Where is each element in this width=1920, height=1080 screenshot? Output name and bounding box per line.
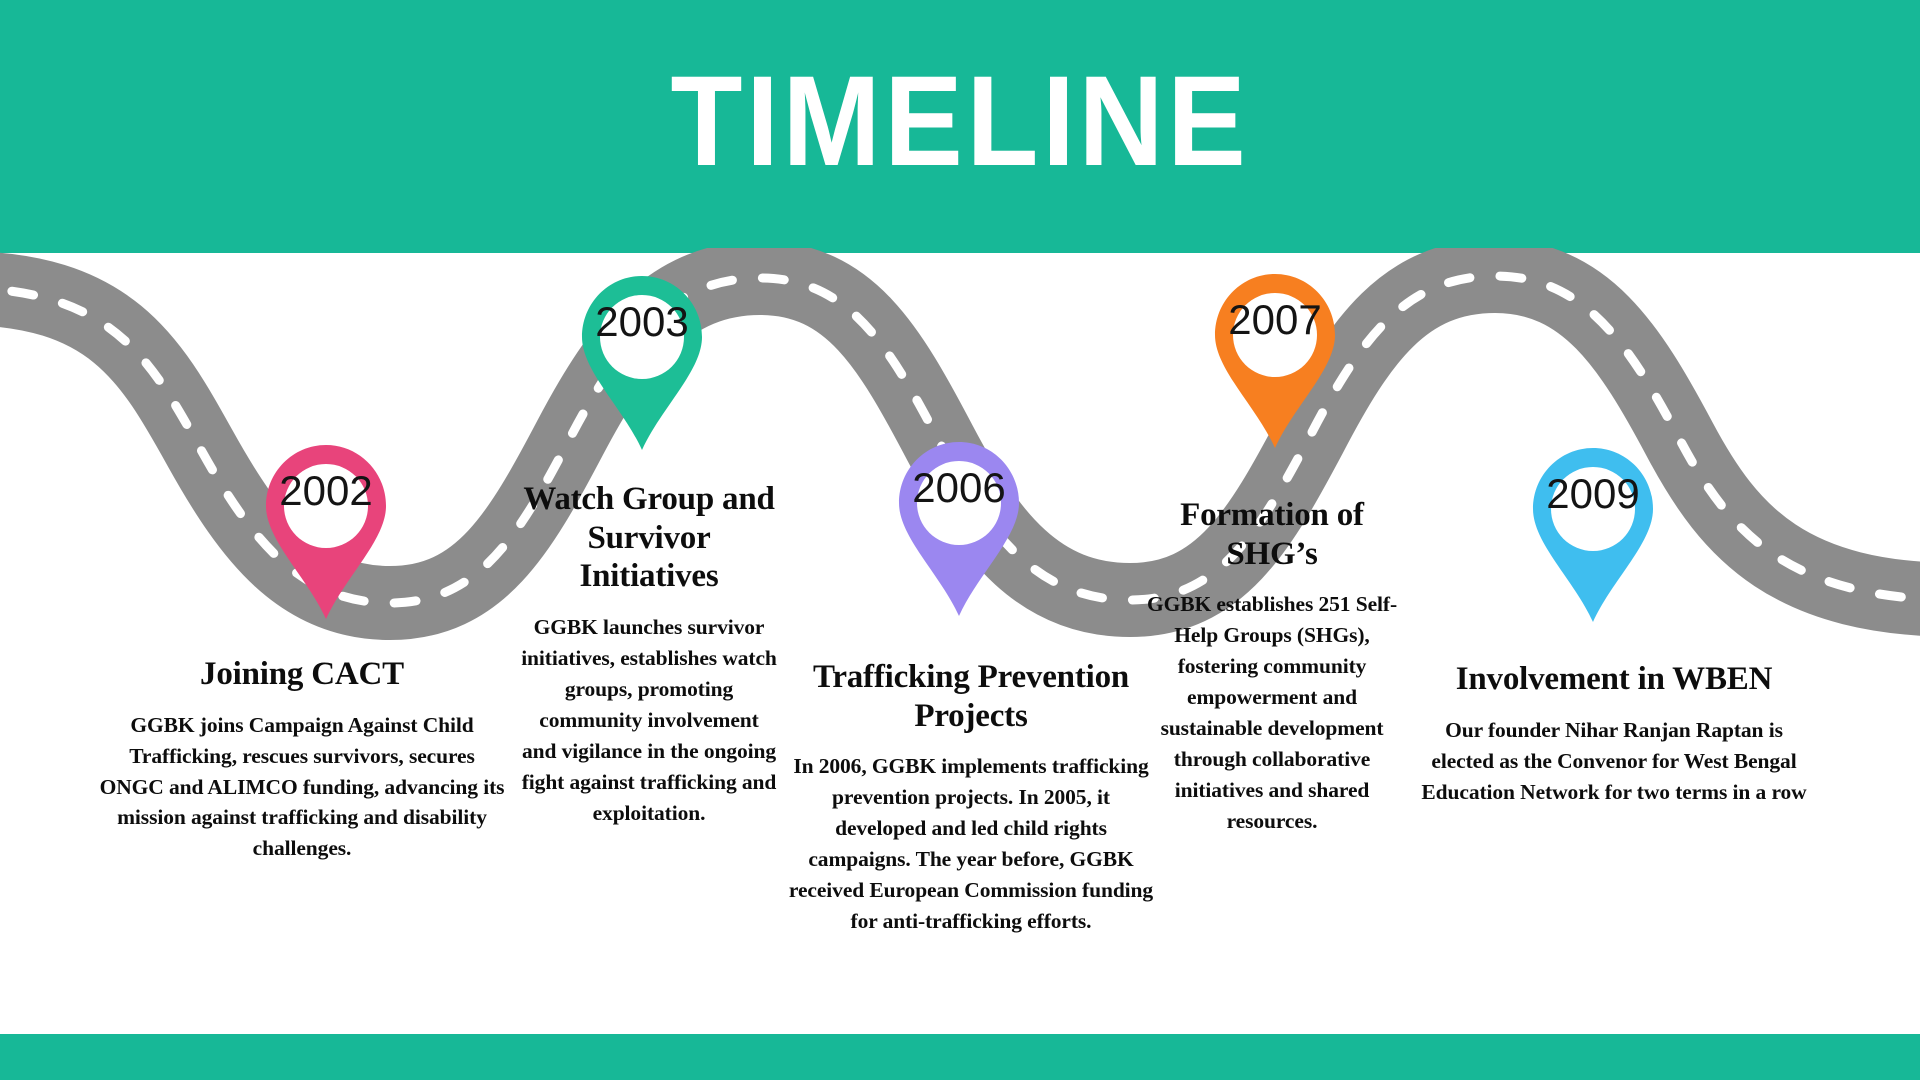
milestone-block-2007: Formation of SHG’s GGBK establishes 251 … (1138, 496, 1406, 837)
milestone-heading: Watch Group and Survivor Initiatives (520, 480, 778, 596)
milestone-body: GGBK establishes 251 Self-Help Groups (S… (1138, 589, 1406, 837)
pin-year-label: 2003 (578, 298, 706, 346)
map-pin-2007[interactable]: 2007 (1211, 272, 1339, 450)
pin-year-label: 2007 (1211, 296, 1339, 344)
map-pin-2002[interactable]: 2002 (262, 443, 390, 621)
map-pin-2009[interactable]: 2009 (1529, 446, 1657, 624)
pin-year-label: 2009 (1529, 470, 1657, 518)
milestone-heading: Trafficking Prevention Projects (785, 658, 1157, 735)
pin-year-label: 2006 (895, 464, 1023, 512)
milestone-body: GGBK joins Campaign Against Child Traffi… (98, 710, 506, 865)
map-pin-2003[interactable]: 2003 (578, 274, 706, 452)
pin-year-label: 2002 (262, 467, 390, 515)
milestone-body: In 2006, GGBK implements trafficking pre… (785, 751, 1157, 937)
milestone-body: GGBK launches survivor initiatives, esta… (520, 612, 778, 829)
page-title: TIMELINE (77, 48, 1843, 195)
milestone-block-2003: Watch Group and Survivor Initiatives GGB… (520, 480, 778, 829)
map-pin-2006[interactable]: 2006 (895, 440, 1023, 618)
milestone-body: Our founder Nihar Ranjan Raptan is elect… (1418, 715, 1810, 808)
milestone-block-2009: Involvement in WBEN Our founder Nihar Ra… (1418, 660, 1810, 807)
milestone-block-2002: Joining CACT GGBK joins Campaign Against… (98, 655, 506, 864)
timeline-poster: TIMELINE 2002 2003 2006 (0, 0, 1920, 1080)
milestone-heading: Joining CACT (98, 655, 506, 694)
milestone-block-2006: Trafficking Prevention Projects In 2006,… (785, 658, 1157, 937)
footer-band (0, 1034, 1920, 1080)
milestone-heading: Formation of SHG’s (1138, 496, 1406, 573)
milestone-heading: Involvement in WBEN (1418, 660, 1810, 699)
